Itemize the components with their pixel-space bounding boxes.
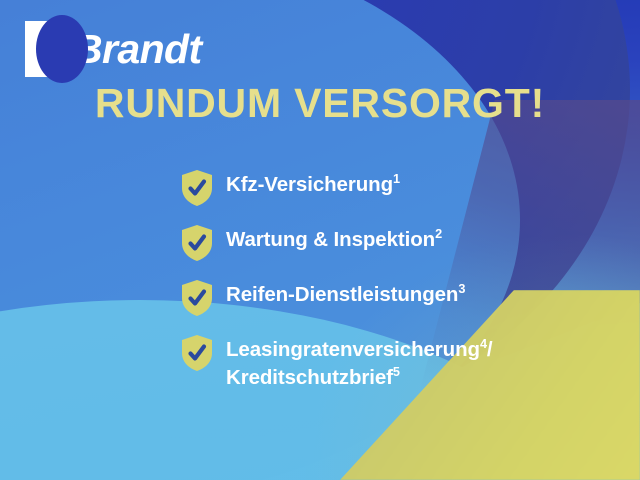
list-item-label: Reifen-Dienstleistungen3 (226, 278, 465, 309)
list-item: Kfz-Versicherung1 (180, 168, 600, 207)
promo-banner: Brandt RUNDUM VERSORGT! Kfz-Versicherung… (0, 0, 640, 480)
shield-check-icon (180, 334, 214, 372)
brand-logo-text: Brandt (73, 29, 202, 70)
shield-check-icon (180, 224, 214, 262)
list-item-label: Kfz-Versicherung1 (226, 168, 400, 199)
list-item: Wartung & Inspektion2 (180, 223, 600, 262)
list-item: Leasingratenversicherung4/Kreditschutzbr… (180, 333, 600, 393)
feature-list: Kfz-Versicherung1 Wartung & Inspektion2 (180, 168, 600, 409)
list-item: Reifen-Dienstleistungen3 (180, 278, 600, 317)
brandt-crescent-mark-icon (25, 21, 55, 77)
shield-check-icon (180, 279, 214, 317)
page-title: RUNDUM VERSORGT! (0, 82, 640, 125)
list-item-label: Leasingratenversicherung4/Kreditschutzbr… (226, 333, 493, 393)
brand-logo[interactable]: Brandt (25, 20, 202, 78)
list-item-label: Wartung & Inspektion2 (226, 223, 442, 254)
shield-check-icon (180, 169, 214, 207)
